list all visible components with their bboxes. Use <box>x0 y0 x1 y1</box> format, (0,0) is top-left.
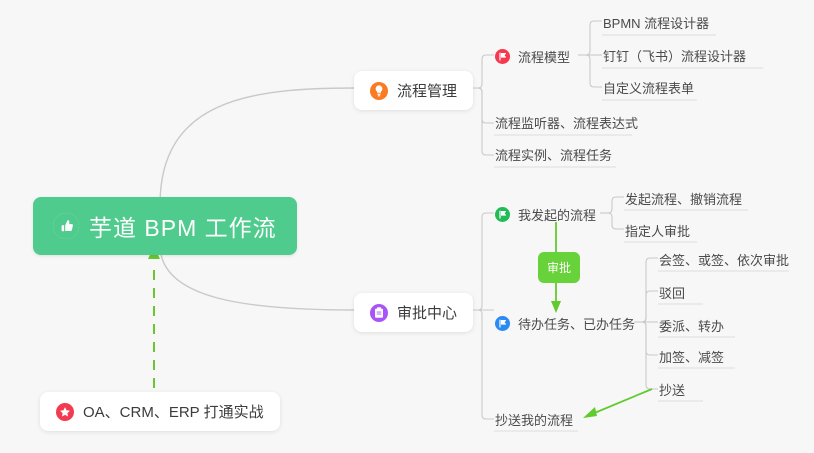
node-liuchengmoxing[interactable]: 流程模型 <box>492 43 573 71</box>
node-label-countersign-types: 会签、或签、依次审批 <box>659 250 789 269</box>
node-label-todo-done-tasks: 待办任务、已办任务 <box>518 314 635 333</box>
link-c-1 <box>472 213 494 310</box>
node-assignee-approval[interactable]: 指定人审批 <box>622 217 693 245</box>
node-label-cc-my-process: 抄送我的流程 <box>495 410 573 429</box>
branch-label-shenpizhongxin: 审批中心 <box>397 302 457 323</box>
annotation-tag-shenpi: 审批 <box>538 252 580 283</box>
arrow-chaosong <box>583 389 652 418</box>
node-label-instance-task: 流程实例、流程任务 <box>495 145 612 164</box>
node-label-assignee-approval: 指定人审批 <box>625 221 690 240</box>
node-cc-my-process[interactable]: 抄送我的流程 <box>492 406 576 434</box>
node-start-cancel-process[interactable]: 发起流程、撤销流程 <box>622 185 745 213</box>
node-label-custom-form: 自定义流程表单 <box>603 78 694 97</box>
node-add-remove-sign[interactable]: 加签、减签 <box>656 343 727 371</box>
star-icon <box>56 403 74 421</box>
node-countersign-types[interactable]: 会签、或签、依次审批 <box>656 246 792 274</box>
branch-node-shenpizhongxin[interactable]: 审批中心 <box>354 293 473 332</box>
arrow-oa-to-root <box>148 246 160 388</box>
branch-node-liuchengguanli[interactable]: 流程管理 <box>354 71 473 110</box>
lightbulb-icon <box>370 82 388 100</box>
root-node[interactable]: 芋道 BPM 工作流 <box>33 197 297 255</box>
node-label-dingtalk-designer: 钉钉（飞书）流程设计器 <box>603 46 746 65</box>
annotation-tag-label: 审批 <box>547 259 571 276</box>
node-label-my-initiated-process: 我发起的流程 <box>518 205 596 224</box>
floating-node-oa-crm-erp[interactable]: OA、CRM、ERP 打通实战 <box>40 392 280 431</box>
node-delegate-transfer[interactable]: 委派、转办 <box>656 312 727 340</box>
link-c-3 <box>472 310 494 419</box>
flag-icon <box>495 207 510 222</box>
root-label: 芋道 BPM 工作流 <box>89 209 277 243</box>
node-instance-task[interactable]: 流程实例、流程任务 <box>492 141 615 169</box>
node-label-cc: 抄送 <box>659 380 685 399</box>
node-label-reject: 驳回 <box>659 283 685 302</box>
node-custom-form[interactable]: 自定义流程表单 <box>600 74 697 102</box>
link-a-1 <box>472 55 494 88</box>
node-label-liuchengmoxing: 流程模型 <box>518 47 570 66</box>
node-label-delegate-transfer: 委派、转办 <box>659 316 724 335</box>
thumbs-up-icon <box>53 213 79 239</box>
branch-label-liuchengguanli: 流程管理 <box>397 80 457 101</box>
node-todo-done-tasks[interactable]: 待办任务、已办任务 <box>492 310 638 338</box>
flag-icon <box>495 316 510 331</box>
flag-icon <box>495 49 510 64</box>
node-label-start-cancel-process: 发起流程、撤销流程 <box>625 189 742 208</box>
node-reject[interactable]: 驳回 <box>656 279 688 307</box>
link-root-to-liuchengguanli <box>160 88 354 205</box>
node-label-listener-expression: 流程监听器、流程表达式 <box>495 113 638 132</box>
node-label-add-remove-sign: 加签、减签 <box>659 347 724 366</box>
node-listener-expression[interactable]: 流程监听器、流程表达式 <box>492 109 641 137</box>
node-bpmn-designer[interactable]: BPMN 流程设计器 <box>600 9 712 37</box>
node-label-bpmn-designer: BPMN 流程设计器 <box>603 13 709 32</box>
link-a-3 <box>472 88 494 155</box>
clipboard-icon <box>370 304 388 322</box>
link-a-2 <box>472 88 494 123</box>
floating-node-label: OA、CRM、ERP 打通实战 <box>83 401 264 422</box>
mindmap-canvas: 芋道 BPM 工作流 流程管理 流程模型 BPMN 流程设计器 钉钉（飞书）流程… <box>0 0 814 453</box>
node-dingtalk-designer[interactable]: 钉钉（飞书）流程设计器 <box>600 42 749 70</box>
node-cc[interactable]: 抄送 <box>656 376 688 404</box>
node-my-initiated-process[interactable]: 我发起的流程 <box>492 201 599 229</box>
